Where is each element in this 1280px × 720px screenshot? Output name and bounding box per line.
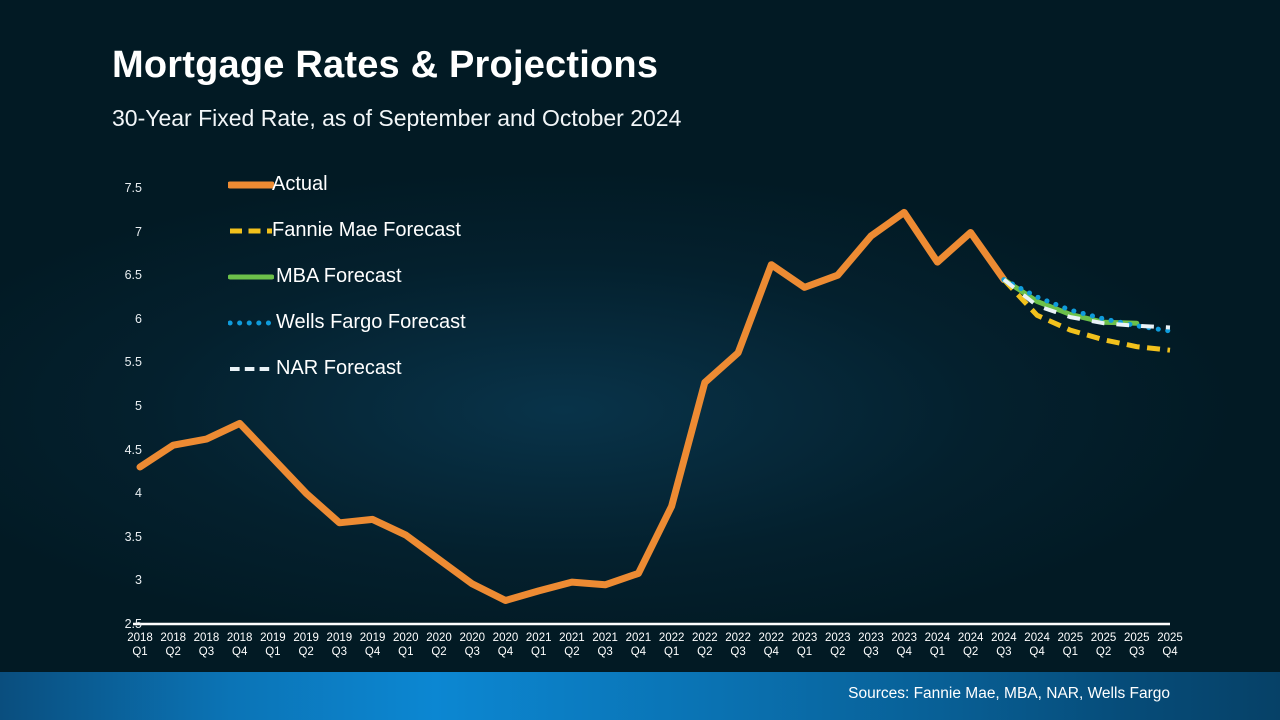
legend-swatch-actual-icon	[228, 173, 274, 197]
footer-bar: Sources: Fannie Mae, MBA, NAR, Wells Far…	[0, 672, 1280, 720]
sources-note: Sources: Fannie Mae, MBA, NAR, Wells Far…	[848, 685, 1170, 703]
y-axis-tick-labels: 2.533.544.555.566.577.5	[98, 0, 142, 720]
legend-swatch-fannie-mae-icon	[228, 219, 274, 243]
legend-label: MBA Forecast	[276, 264, 402, 288]
y-tick-label: 5.5	[98, 356, 142, 368]
line-chart	[0, 0, 1280, 720]
y-tick-label: 7.5	[98, 182, 142, 194]
y-tick-label: 3.5	[98, 531, 142, 543]
y-tick-label: 6	[98, 313, 142, 325]
series-line-wells-fargo-forecast	[1004, 280, 1170, 331]
x-axis-tick-labels: 2018Q12018Q22018Q32018Q42019Q12019Q22019…	[0, 631, 1280, 671]
legend-label: Fannie Mae Forecast	[272, 218, 461, 242]
y-tick-label: 3	[98, 574, 142, 586]
legend-swatch-nar-icon	[228, 357, 274, 381]
x-tick-label: 2025Q4	[1150, 631, 1190, 659]
legend-swatch-wells-fargo-icon	[228, 311, 274, 335]
y-tick-label: 2.5	[98, 618, 142, 630]
y-tick-label: 5	[98, 400, 142, 412]
slide-canvas: Mortgage Rates & Projections 30-Year Fix…	[0, 0, 1280, 720]
legend-label: NAR Forecast	[276, 356, 402, 380]
y-tick-label: 4.5	[98, 444, 142, 456]
legend-swatch-mba-icon	[228, 265, 274, 289]
series-line-fannie-mae-forecast	[1004, 280, 1170, 351]
y-tick-label: 7	[98, 226, 142, 238]
y-tick-label: 6.5	[98, 269, 142, 281]
legend-label: Actual	[272, 172, 328, 196]
y-tick-label: 4	[98, 487, 142, 499]
legend-label: Wells Fargo Forecast	[276, 310, 466, 334]
